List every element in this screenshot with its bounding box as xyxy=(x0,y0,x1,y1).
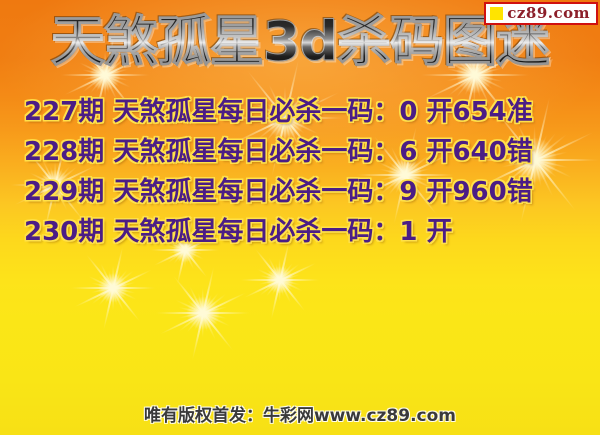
starburst-icon xyxy=(70,245,156,331)
starburst-ray-icon xyxy=(198,293,208,333)
starburst-ray-icon xyxy=(91,282,135,293)
starburst-ray-icon xyxy=(179,307,228,320)
prediction-list: 227期 天煞孤星每日必杀一码：0 开654准 228期 天煞孤星每日必杀一码：… xyxy=(0,92,600,252)
starburst-ray-icon xyxy=(101,264,125,313)
starburst-core-icon xyxy=(266,266,293,293)
prediction-text: 227期 天煞孤星每日必杀一码：0 开654准 xyxy=(24,97,533,127)
starburst-ray-icon xyxy=(89,276,138,300)
starburst-ray-icon xyxy=(420,74,530,76)
starburst-ray-icon xyxy=(104,271,121,304)
starburst-ray-icon xyxy=(240,279,320,281)
starburst-ray-icon xyxy=(85,254,140,323)
starburst-ray-icon xyxy=(266,263,293,296)
starburst-core-icon xyxy=(187,297,220,330)
starburst-ray-icon xyxy=(60,74,150,76)
starburst-ray-icon xyxy=(260,264,300,296)
prediction-text: 230期 天煞孤星每日必杀一码：1 开 xyxy=(24,217,452,247)
starburst-ray-icon xyxy=(272,265,288,296)
prediction-row: 230期 天煞孤星每日必杀一码：1 开 xyxy=(0,212,600,252)
starburst-ray-icon xyxy=(176,299,230,326)
starburst-ray-icon xyxy=(189,286,216,340)
starburst-ray-icon xyxy=(279,259,281,301)
starburst-ray-icon xyxy=(179,307,228,320)
starburst-ray-icon xyxy=(270,241,290,320)
starburst-ray-icon xyxy=(191,266,215,360)
starburst-ray-icon xyxy=(172,275,234,352)
starburst-ray-icon xyxy=(254,248,306,312)
poster-canvas: cz89.com 天煞孤星3d杀码图迷 227期 天煞孤星每日必杀一码：0 开6… xyxy=(0,0,600,435)
starburst-ray-icon xyxy=(98,276,127,300)
prediction-row: 229期 天煞孤星每日必杀一码：9 开960错 xyxy=(0,172,600,212)
starburst-ray-icon xyxy=(98,270,127,306)
starburst-ray-icon xyxy=(155,312,251,314)
starburst-ray-icon xyxy=(74,268,153,307)
starburst-ray-icon xyxy=(266,269,293,291)
starburst-icon xyxy=(240,240,320,320)
prediction-text: 229期 天煞孤星每日必杀一码：9 开960错 xyxy=(24,177,533,207)
starburst-ray-icon xyxy=(70,287,156,289)
prediction-row: 228期 天煞孤星每日必杀一码：6 开640错 xyxy=(0,132,600,172)
starburst-ray-icon xyxy=(179,294,226,332)
starburst-ray-icon xyxy=(187,293,219,333)
starburst-ray-icon xyxy=(112,266,114,311)
starburst-ray-icon xyxy=(260,275,301,286)
starburst-ray-icon xyxy=(102,246,123,330)
starburst-ray-icon xyxy=(91,282,135,293)
logo-swatch-icon xyxy=(490,7,503,20)
page-title-text: 天煞孤星3d杀码图迷 xyxy=(51,12,549,72)
starburst-ray-icon xyxy=(194,295,213,332)
site-logo-badge[interactable]: cz89.com xyxy=(484,2,598,25)
starburst-ray-icon xyxy=(187,300,219,326)
starburst-ray-icon xyxy=(202,288,204,338)
starburst-ray-icon xyxy=(276,263,285,296)
starburst-core-icon xyxy=(98,273,127,302)
logo-text: cz89.com xyxy=(507,5,590,21)
starburst-ray-icon xyxy=(269,257,292,302)
starburst-icon xyxy=(155,265,251,361)
starburst-ray-icon xyxy=(260,275,301,286)
prediction-row: 227期 天煞孤星每日必杀一码：0 开654准 xyxy=(0,92,600,132)
starburst-ray-icon xyxy=(159,291,247,335)
starburst-ray-icon xyxy=(108,270,117,306)
starburst-ray-icon xyxy=(92,271,135,305)
starburst-ray-icon xyxy=(243,262,316,299)
footer-copyright-text: 唯有版权首发：牛彩网www.cz89.com xyxy=(144,406,456,426)
prediction-text: 228期 天煞孤星每日必杀一码：6 开640错 xyxy=(24,137,533,167)
starburst-ray-icon xyxy=(257,269,302,292)
footer: 唯有版权首发：牛彩网www.cz89.com xyxy=(0,405,600,427)
